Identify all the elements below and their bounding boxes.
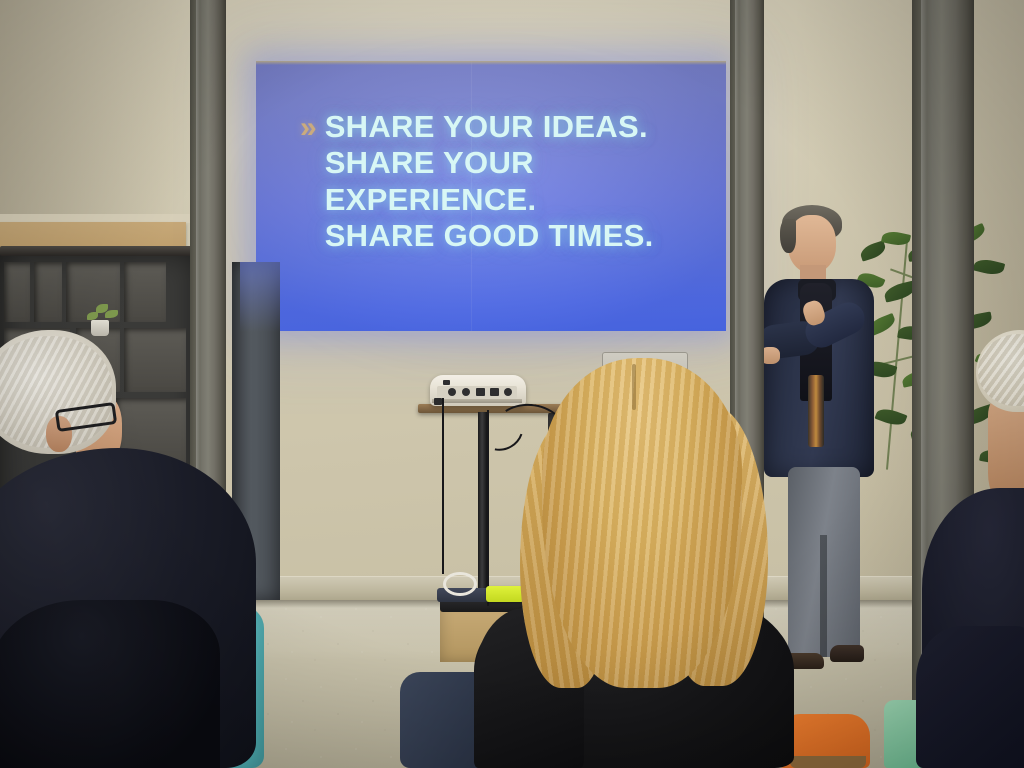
audience-center-hair-part <box>632 364 636 410</box>
audience-right <box>916 330 1024 768</box>
slide-line-2: SHARE YOUR <box>325 145 654 180</box>
presenter-stripe-detail <box>808 375 824 447</box>
power-cable <box>442 398 444 574</box>
slide-content: » SHARE YOUR IDEAS. SHARE YOUR EXPERIENC… <box>300 109 706 253</box>
presenter-shoe-right <box>830 645 864 662</box>
stool-orange-base <box>790 756 866 768</box>
presenter-hair-side <box>780 219 796 253</box>
shelf-cell <box>34 262 62 322</box>
shelf-cell <box>124 262 166 322</box>
projection-screen: » SHARE YOUR IDEAS. SHARE YOUR EXPERIENC… <box>256 61 726 331</box>
audience-center <box>460 358 800 768</box>
audience-left-shoulder <box>0 600 220 768</box>
plant-leaf <box>105 310 118 318</box>
screen-top-edge <box>256 61 726 65</box>
slide-line-1: SHARE YOUR IDEAS. <box>325 109 654 144</box>
double-chevron-right-icon: » <box>300 113 313 143</box>
projector-port <box>443 380 450 385</box>
photo-scene: » SHARE YOUR IDEAS. SHARE YOUR EXPERIENC… <box>0 0 1024 768</box>
presenter-leg-seam <box>820 535 827 657</box>
plant-leaf <box>87 312 98 320</box>
projector-foot <box>434 398 442 405</box>
plant-leaf <box>973 257 1005 278</box>
shelving-top-board <box>0 246 200 256</box>
slide-text-block: SHARE YOUR IDEAS. SHARE YOUR EXPERIENCE.… <box>325 109 654 253</box>
audience-right-arm <box>916 626 1024 768</box>
audience-center-hair <box>542 358 742 688</box>
slide-line-4: SHARE GOOD TIMES. <box>325 218 654 253</box>
shelf-cell <box>4 262 30 322</box>
slide-line-3: EXPERIENCE. <box>325 182 654 217</box>
cabinet-screen-glow <box>240 262 280 332</box>
projector-port <box>448 388 456 396</box>
